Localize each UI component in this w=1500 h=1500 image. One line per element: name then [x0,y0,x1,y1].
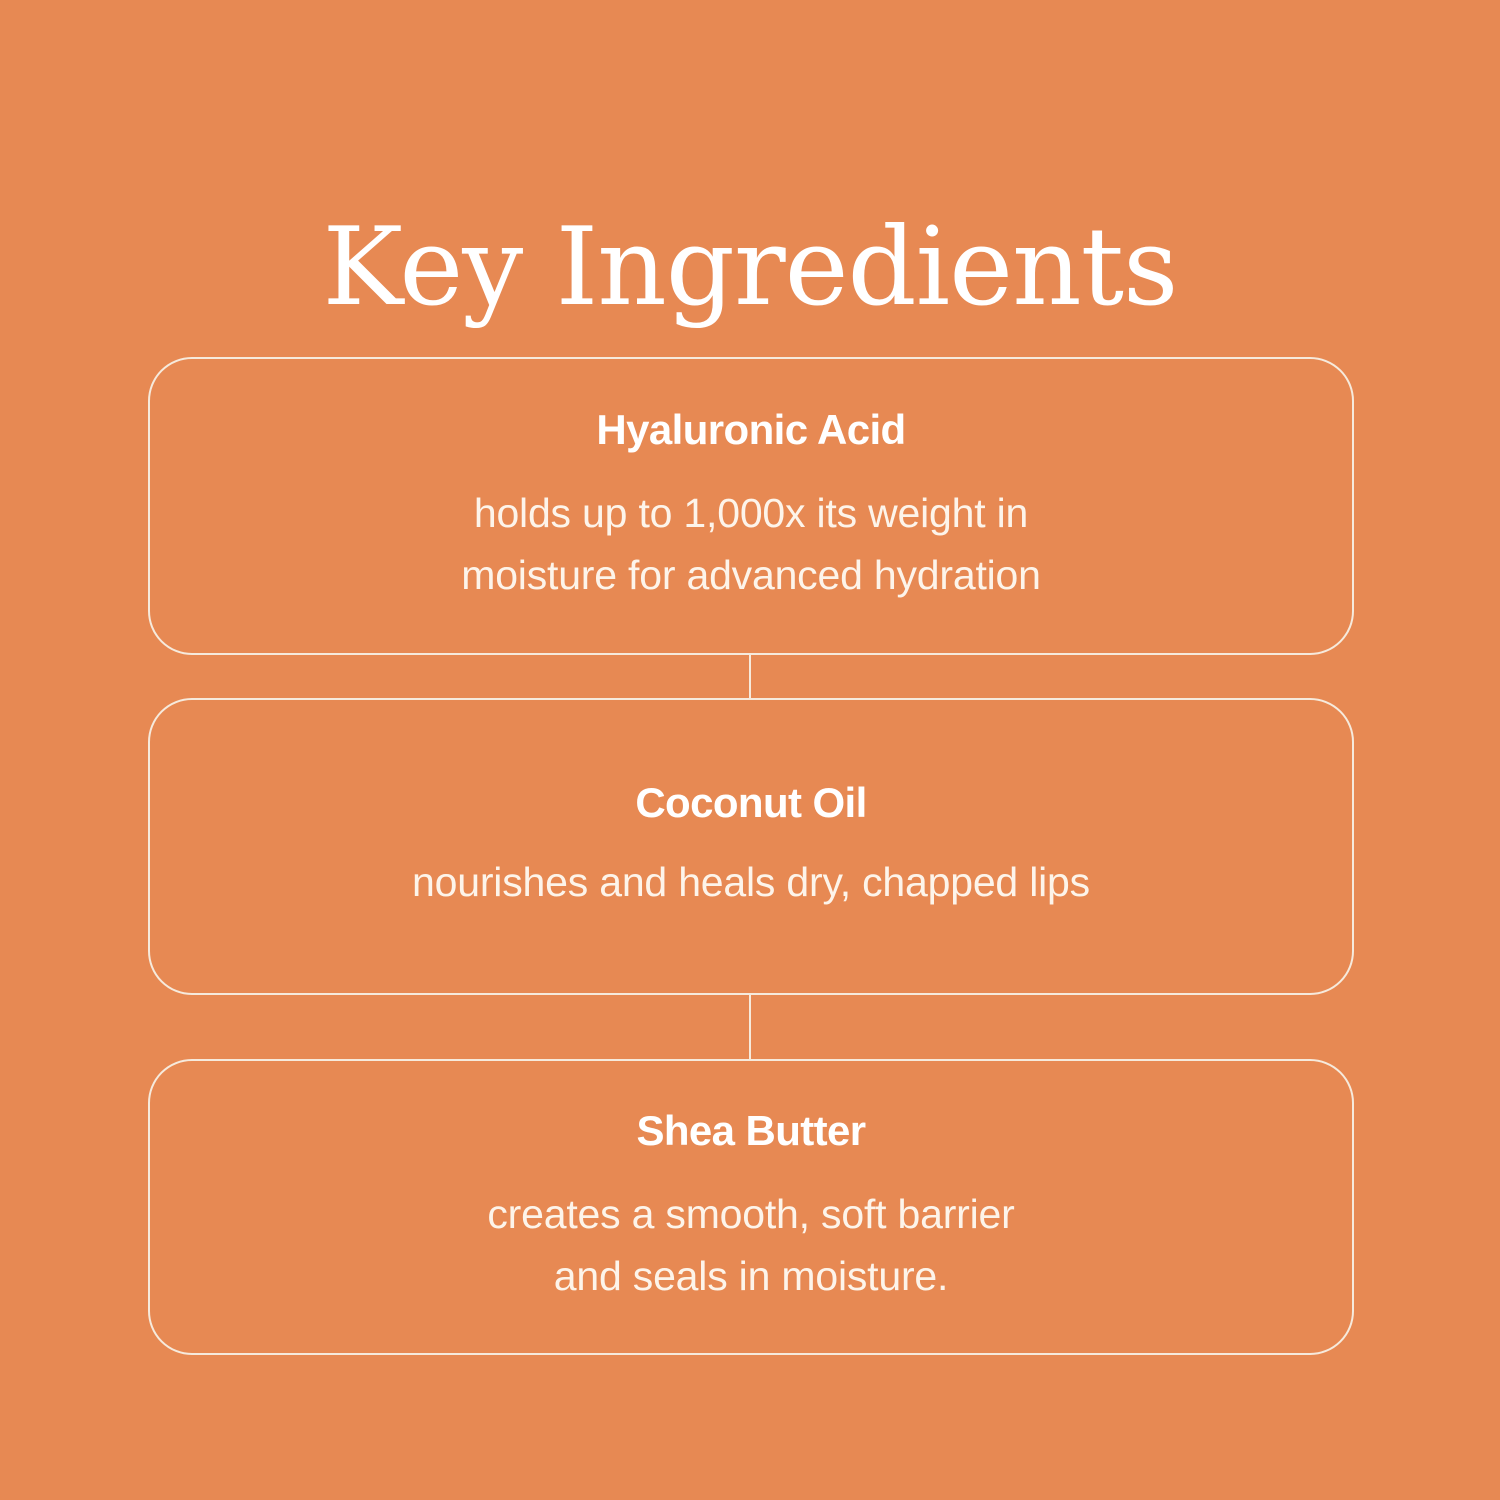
ingredient-description: holds up to 1,000x its weight in moistur… [461,482,1041,607]
key-ingredients-infographic: Key Ingredients Hyaluronic Acid holds up… [0,0,1500,1500]
ingredient-card-coconut-oil: Coconut Oil nourishes and heals dry, cha… [148,698,1354,995]
connector-line-1 [749,655,751,700]
connector-line-2 [749,995,751,1061]
ingredient-name: Hyaluronic Acid [596,406,905,454]
ingredient-name: Shea Butter [636,1107,865,1155]
ingredient-card-shea-butter: Shea Butter creates a smooth, soft barri… [148,1059,1354,1355]
ingredient-card-hyaluronic-acid: Hyaluronic Acid holds up to 1,000x its w… [148,357,1354,655]
ingredient-card-stack: Hyaluronic Acid holds up to 1,000x its w… [148,357,1354,1355]
ingredient-description: creates a smooth, soft barrier and seals… [487,1183,1014,1308]
ingredient-name: Coconut Oil [635,779,866,827]
ingredient-description: nourishes and heals dry, chapped lips [412,851,1090,913]
page-title: Key Ingredients [0,211,1500,324]
